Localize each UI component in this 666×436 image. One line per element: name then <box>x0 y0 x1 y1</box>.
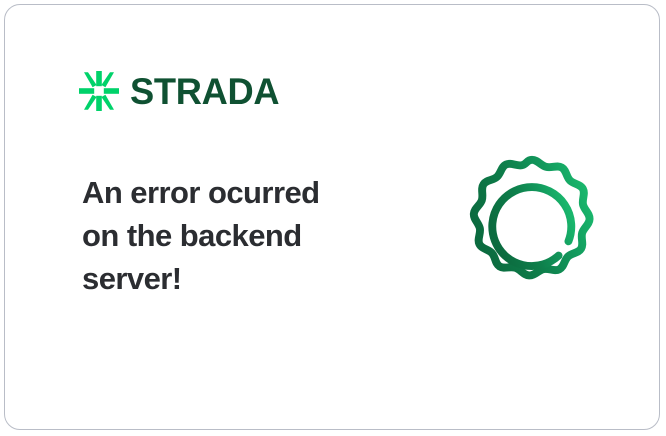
error-headline: An error ocurred on the backend server! <box>82 171 382 300</box>
strada-asterisk-icon <box>77 69 121 113</box>
brand-logo: STRADA <box>77 69 282 113</box>
brand-wordmark: STRADA <box>130 73 279 110</box>
gear-cog-icon <box>453 145 611 305</box>
error-card: STRADA An error ocurred on the backend s… <box>4 4 660 430</box>
